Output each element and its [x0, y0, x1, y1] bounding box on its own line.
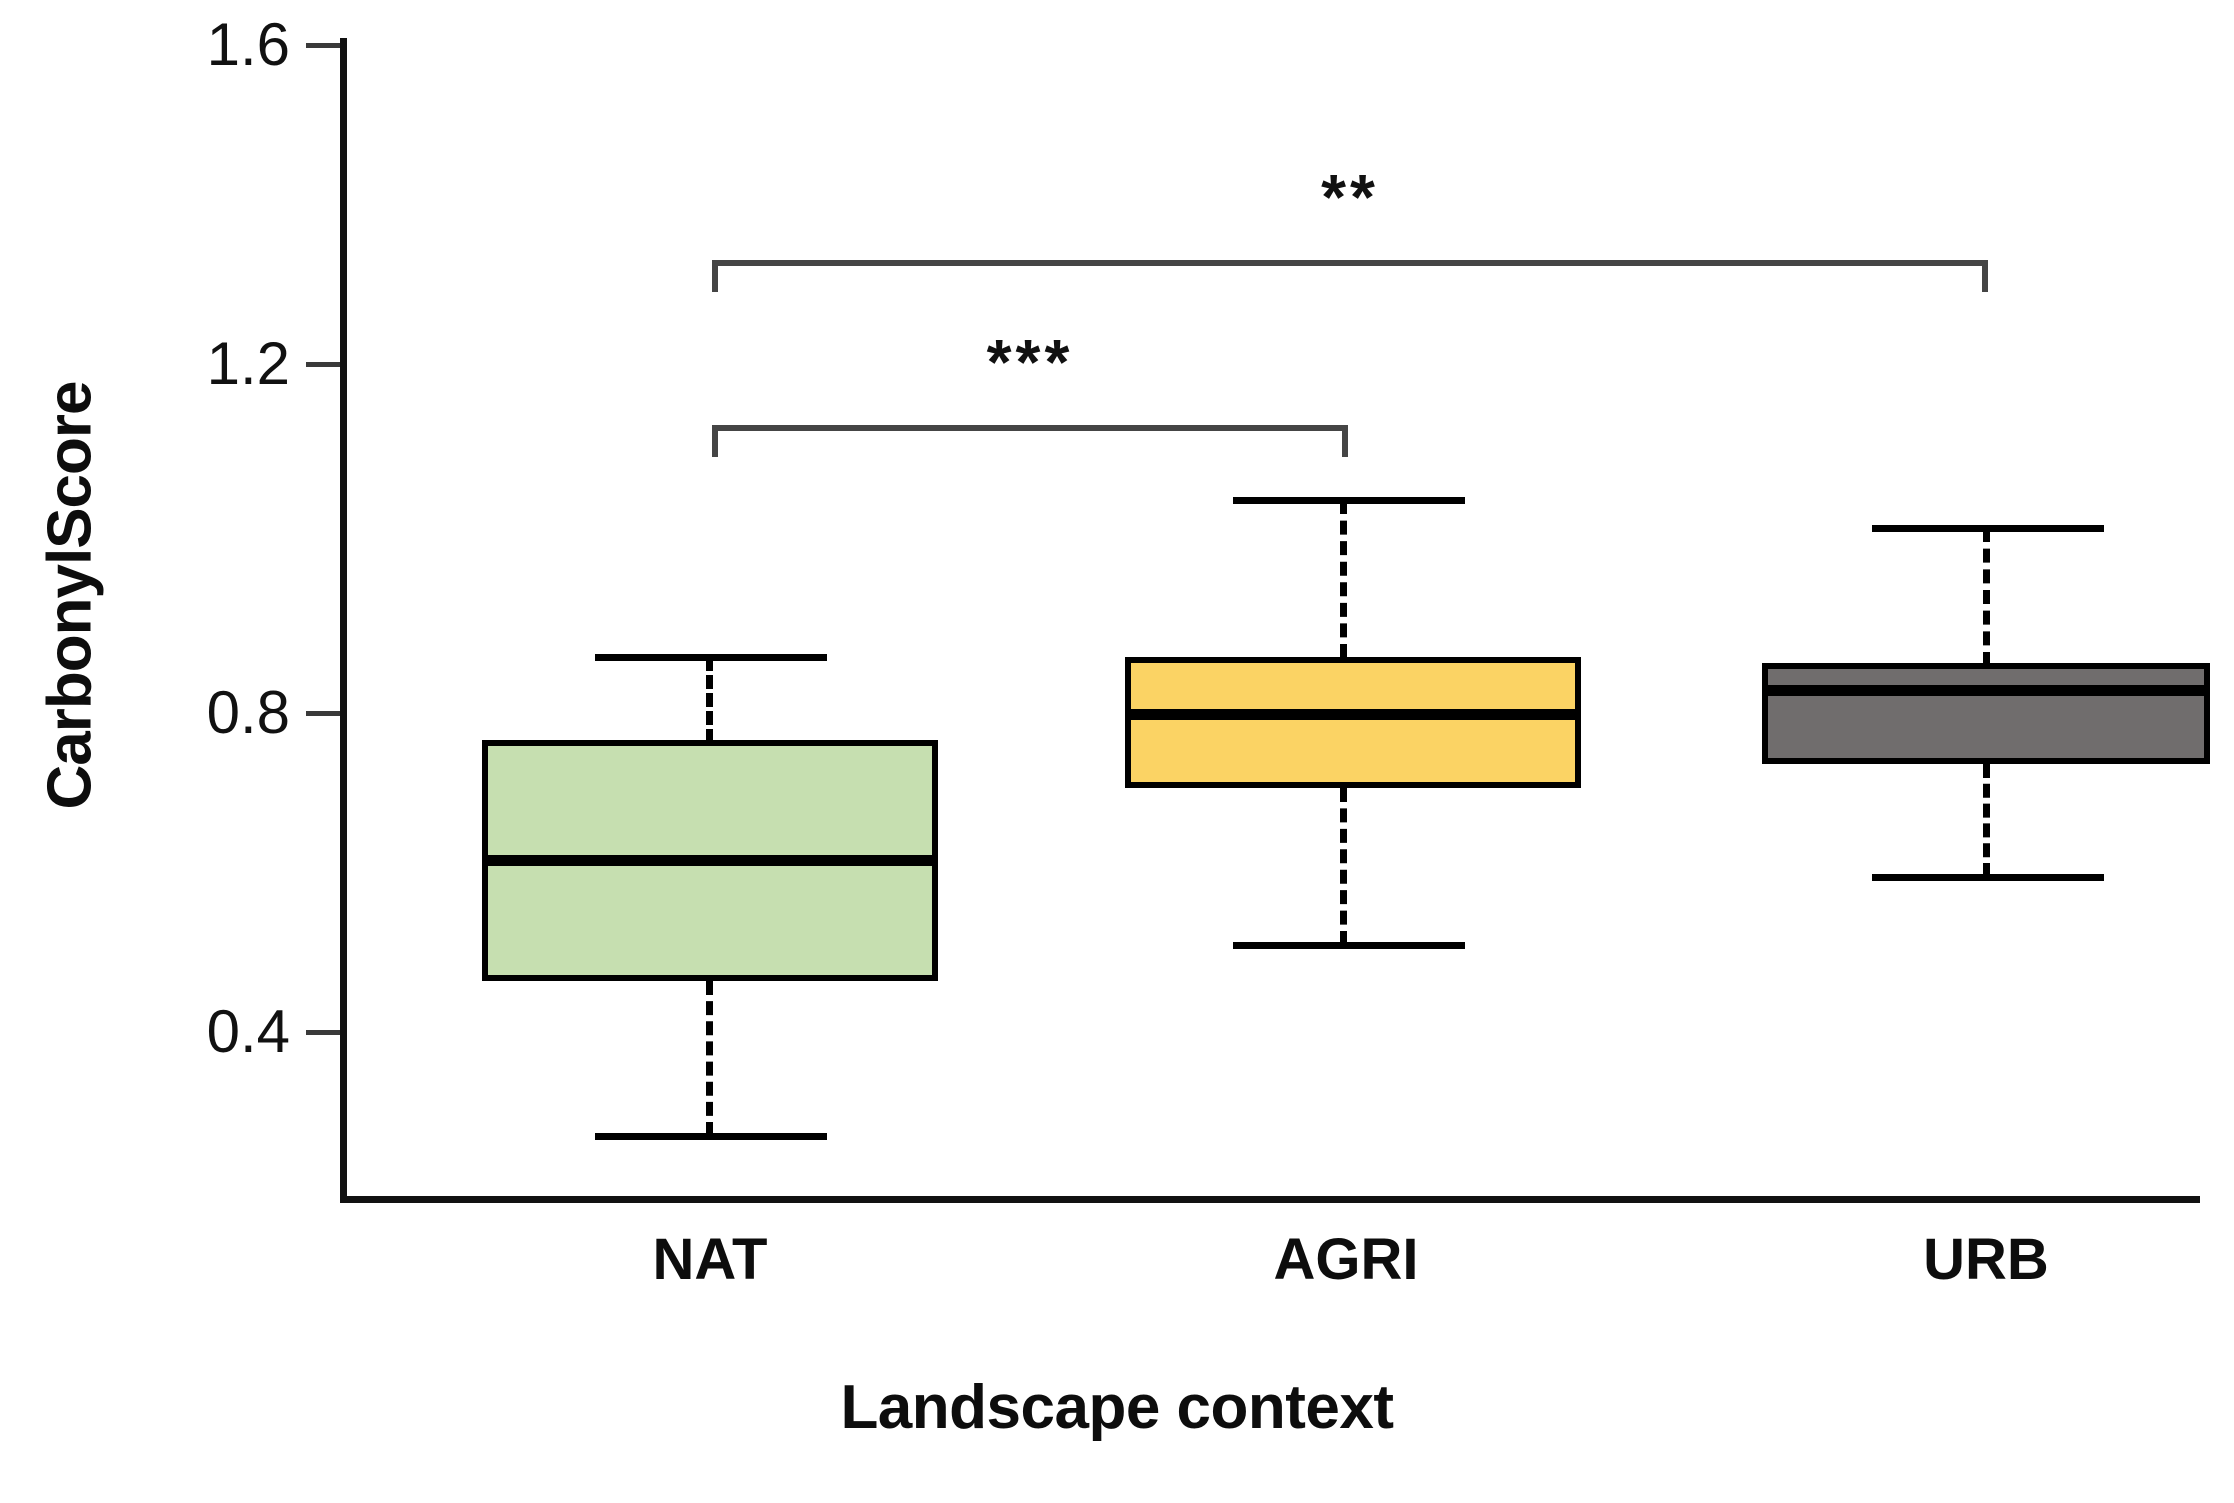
sig-bracket-line-1	[712, 260, 1988, 266]
whisker-cap-upper-agri	[1233, 497, 1465, 504]
y-tick-label-1: 1.6	[70, 10, 290, 79]
whisker-lower-nat	[706, 981, 713, 1136]
whisker-cap-upper-urb	[1872, 525, 2104, 532]
y-tick-1	[306, 43, 340, 48]
y-tick-label-3: 0.8	[70, 678, 290, 747]
whisker-cap-lower-agri	[1233, 942, 1465, 949]
whisker-upper-nat	[706, 657, 713, 743]
box-agri	[1125, 657, 1581, 788]
y-tick-label-2: 1.2	[70, 329, 290, 398]
whisker-cap-lower-urb	[1872, 874, 2104, 881]
sig-bracket-tick-left-1	[712, 260, 718, 292]
whisker-cap-upper-nat	[595, 654, 827, 661]
whisker-upper-agri	[1340, 500, 1347, 658]
x-axis-line	[340, 1196, 2200, 1203]
chart-root: CarbonylScore Landscape context 1.6 1.2 …	[0, 0, 2234, 1503]
significance-stars-nat-urb: **	[1150, 160, 1550, 234]
sig-bracket-tick-right-1	[1982, 260, 1988, 292]
y-tick-label-4: 0.4	[70, 997, 290, 1066]
whisker-lower-agri	[1340, 788, 1347, 945]
whisker-lower-urb	[1983, 764, 1990, 877]
whisker-cap-lower-nat	[595, 1133, 827, 1140]
x-tick-label-nat: NAT	[510, 1226, 910, 1293]
median-line-nat	[482, 855, 938, 866]
sig-bracket-line-2	[712, 425, 1348, 431]
median-line-agri	[1125, 709, 1581, 720]
y-tick-4	[306, 1030, 340, 1035]
plot-area: 1.6 1.2 0.8 0.4 NAT AGRI URB	[0, 0, 2234, 1503]
significance-stars-nat-agri: ***	[830, 325, 1230, 399]
x-tick-label-agri: AGRI	[1146, 1226, 1546, 1293]
box-urb	[1762, 663, 2210, 764]
whisker-upper-urb	[1983, 528, 1990, 666]
y-tick-3	[306, 711, 340, 716]
median-line-urb	[1762, 685, 2210, 696]
sig-bracket-tick-left-2	[712, 425, 718, 457]
y-tick-2	[306, 362, 340, 367]
sig-bracket-tick-right-2	[1342, 425, 1348, 457]
y-axis-line	[340, 38, 347, 1202]
x-tick-label-urb: URB	[1786, 1226, 2186, 1293]
